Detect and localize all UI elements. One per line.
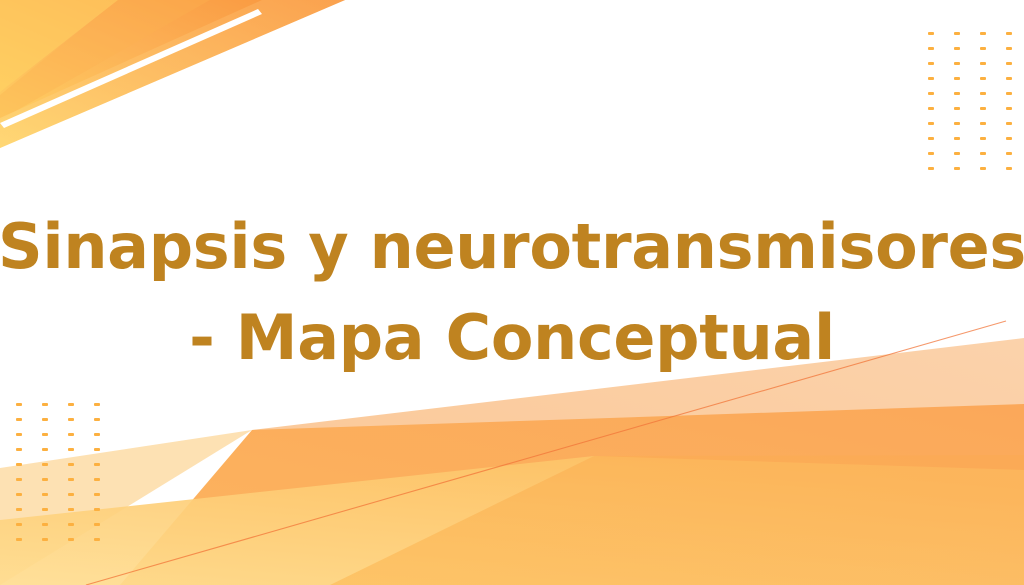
- dot: [954, 122, 960, 125]
- dot: [928, 77, 934, 80]
- dot: [68, 418, 74, 421]
- dot: [68, 478, 74, 481]
- dot-grid-top-right: [928, 32, 1024, 182]
- dot: [68, 403, 74, 406]
- dot: [1006, 107, 1012, 110]
- dot: [928, 167, 934, 170]
- dot: [68, 493, 74, 496]
- dot: [954, 137, 960, 140]
- dot: [954, 47, 960, 50]
- dot: [1006, 47, 1012, 50]
- dot: [980, 62, 986, 65]
- title-slide: Sinapsis y neurotransmisores - Mapa Conc…: [0, 0, 1024, 585]
- dot: [68, 463, 74, 466]
- dot: [94, 433, 100, 436]
- dot: [42, 508, 48, 511]
- dot: [68, 523, 74, 526]
- dot: [1006, 152, 1012, 155]
- dot: [42, 493, 48, 496]
- dot: [68, 433, 74, 436]
- dot: [954, 107, 960, 110]
- dot: [16, 418, 22, 421]
- dot: [94, 508, 100, 511]
- dot: [94, 478, 100, 481]
- dot: [980, 92, 986, 95]
- dot: [1006, 32, 1012, 35]
- dot: [42, 433, 48, 436]
- dot: [94, 523, 100, 526]
- dot: [94, 448, 100, 451]
- dot: [16, 538, 22, 541]
- dot: [68, 448, 74, 451]
- dot: [928, 122, 934, 125]
- decorative-background: [0, 0, 1024, 585]
- dot: [928, 152, 934, 155]
- dot: [1006, 77, 1012, 80]
- dot: [42, 538, 48, 541]
- dot: [928, 92, 934, 95]
- dot: [954, 167, 960, 170]
- dot: [42, 463, 48, 466]
- dot: [928, 47, 934, 50]
- dot: [928, 32, 934, 35]
- dot: [954, 77, 960, 80]
- dot: [980, 137, 986, 140]
- dot: [42, 478, 48, 481]
- dot: [980, 152, 986, 155]
- dot: [42, 523, 48, 526]
- dot: [94, 493, 100, 496]
- dot: [42, 403, 48, 406]
- dot: [16, 403, 22, 406]
- dot: [928, 137, 934, 140]
- dot: [94, 538, 100, 541]
- dot: [42, 448, 48, 451]
- dot: [16, 523, 22, 526]
- dot: [16, 478, 22, 481]
- dot: [928, 62, 934, 65]
- dot: [16, 508, 22, 511]
- dot: [16, 433, 22, 436]
- dot: [68, 508, 74, 511]
- dot: [928, 107, 934, 110]
- dot: [1006, 62, 1012, 65]
- dot: [980, 122, 986, 125]
- dot: [94, 418, 100, 421]
- dot: [980, 167, 986, 170]
- dot: [980, 32, 986, 35]
- dot: [980, 47, 986, 50]
- dot: [16, 463, 22, 466]
- dot: [16, 493, 22, 496]
- dot: [954, 32, 960, 35]
- dot: [68, 538, 74, 541]
- dot: [980, 77, 986, 80]
- dot: [16, 448, 22, 451]
- dot: [954, 92, 960, 95]
- dot: [954, 152, 960, 155]
- dot: [1006, 167, 1012, 170]
- dot-grid-bottom-left: [16, 403, 120, 553]
- dot: [980, 107, 986, 110]
- dot: [954, 62, 960, 65]
- dot: [94, 403, 100, 406]
- dot: [1006, 92, 1012, 95]
- dot: [1006, 122, 1012, 125]
- dot: [1006, 137, 1012, 140]
- dot: [94, 463, 100, 466]
- dot: [42, 418, 48, 421]
